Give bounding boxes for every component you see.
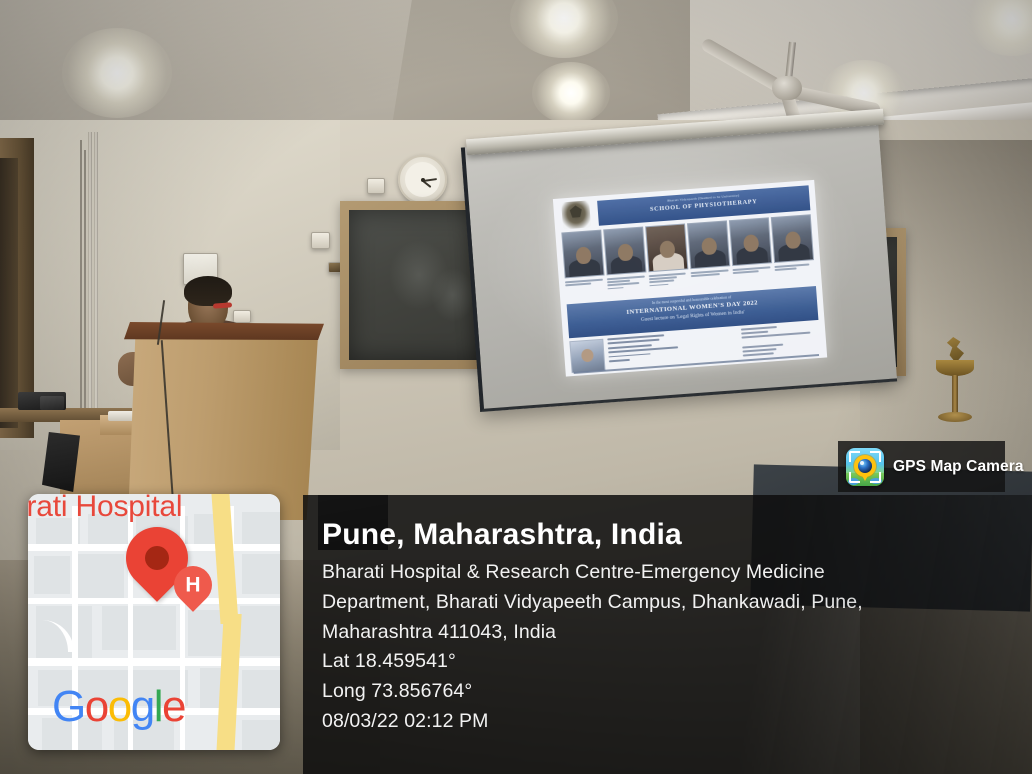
location-timestamp: 08/03/22 02:12 PM	[322, 707, 1032, 737]
photo-face	[659, 240, 675, 258]
speaker-line	[609, 359, 630, 362]
map-block	[240, 606, 280, 656]
photo-face	[575, 246, 591, 264]
clock-center	[421, 178, 425, 182]
dignitary-name	[691, 269, 733, 294]
projector-screen: Bharati Vidyapeeth (Deemed to be Univers…	[461, 117, 897, 412]
location-info-panel: Pune, Maharashtra, India Bharati Hospita…	[303, 495, 1032, 774]
map-block	[78, 554, 124, 598]
clock-face	[405, 162, 440, 197]
ceiling-fan-hub	[772, 76, 802, 100]
map-thumbnail[interactable]: arati Hospital H Google	[28, 494, 280, 750]
projected-slide: Bharati Vidyapeeth (Deemed to be Univers…	[553, 180, 827, 377]
viewfinder-corner-icon	[849, 451, 860, 462]
brass-lamp-base	[938, 412, 972, 422]
viewfinder-corner-icon	[870, 451, 881, 462]
map-block	[34, 556, 70, 594]
chalkboard-surface	[349, 210, 481, 360]
brass-lamp-stand	[952, 375, 958, 415]
google-logo-g1: G	[52, 682, 85, 731]
podium-top	[124, 322, 324, 340]
recessed-light-icon	[62, 28, 172, 118]
dignitary-name	[565, 278, 607, 303]
speaker-line	[609, 353, 651, 358]
dignitary-photo	[561, 230, 604, 279]
wall-socket	[233, 310, 251, 323]
photo-face	[784, 231, 800, 249]
map-block	[242, 720, 280, 750]
dignitary-photo	[687, 220, 730, 269]
organiser-line	[743, 353, 774, 357]
presenter-hair	[184, 276, 232, 306]
location-longitude: Long 73.856764°	[322, 677, 1032, 707]
organiser-line	[742, 344, 783, 349]
dignitary-photo	[771, 214, 814, 263]
dignitary-photo	[645, 223, 688, 272]
location-latitude: Lat 18.459541°	[322, 647, 1032, 677]
location-title: Pune, Maharashtra, India	[322, 517, 1032, 552]
google-logo: Google	[52, 682, 185, 732]
photo-face	[743, 234, 759, 252]
clock-minute-hand	[422, 178, 436, 181]
chalk-smudge	[431, 268, 475, 322]
dignitary-name	[732, 266, 774, 291]
dignitary-name	[774, 263, 816, 288]
map-place-label: arati Hospital	[28, 494, 182, 524]
dignitary-photo	[603, 227, 646, 276]
map-block	[242, 512, 280, 546]
wall-conduit	[94, 132, 98, 417]
google-logo-o1: o	[85, 682, 108, 731]
dignitary-photo	[729, 217, 772, 266]
university-crest-icon	[561, 200, 591, 229]
equipment-detail	[40, 396, 64, 410]
location-address-line-1: Bharati Hospital & Research Centre-Emerg…	[322, 558, 1032, 588]
wall-conduit	[88, 132, 92, 417]
dignitary-name	[607, 275, 649, 300]
map-block	[242, 670, 280, 708]
photo-face	[617, 243, 633, 261]
brass-lamp-bowl	[936, 360, 974, 376]
wall-switch-box	[311, 232, 330, 249]
gps-map-camera-photo: Bharati Vidyapeeth (Deemed to be Univers…	[0, 0, 1032, 774]
organiser-line	[741, 326, 777, 330]
google-logo-g2: g	[131, 682, 154, 731]
location-address-line-2: Department, Bharati Vidyapeeth Campus, D…	[322, 588, 1032, 618]
google-logo-e: e	[162, 682, 185, 731]
wall-wire	[84, 150, 86, 412]
podium	[128, 330, 318, 520]
dignitary-name	[649, 272, 691, 297]
map-block	[102, 606, 176, 650]
hospital-pin-label: H	[185, 575, 200, 596]
organiser-line	[741, 331, 768, 335]
map-block	[242, 554, 280, 594]
viewfinder-corner-icon	[870, 472, 881, 483]
gps-map-camera-icon	[846, 448, 884, 486]
google-logo-l: l	[154, 682, 162, 731]
gps-map-camera-label: GPS Map Camera	[893, 458, 1024, 476]
recessed-light-icon	[532, 62, 610, 124]
location-address-line-3: Maharashtra 411043, India	[322, 618, 1032, 648]
photo-face	[701, 237, 717, 255]
wall-clock-icon	[398, 155, 447, 204]
camera-lens-icon	[858, 459, 872, 473]
door-panel	[0, 158, 18, 428]
wall-sensor-box	[367, 178, 385, 194]
google-logo-o2: o	[108, 682, 131, 731]
map-road	[28, 658, 280, 666]
speaker-photo	[569, 339, 605, 373]
wall-wire	[80, 140, 82, 410]
gps-map-camera-badge: GPS Map Camera	[838, 441, 1005, 492]
viewfinder-corner-icon	[849, 472, 860, 483]
